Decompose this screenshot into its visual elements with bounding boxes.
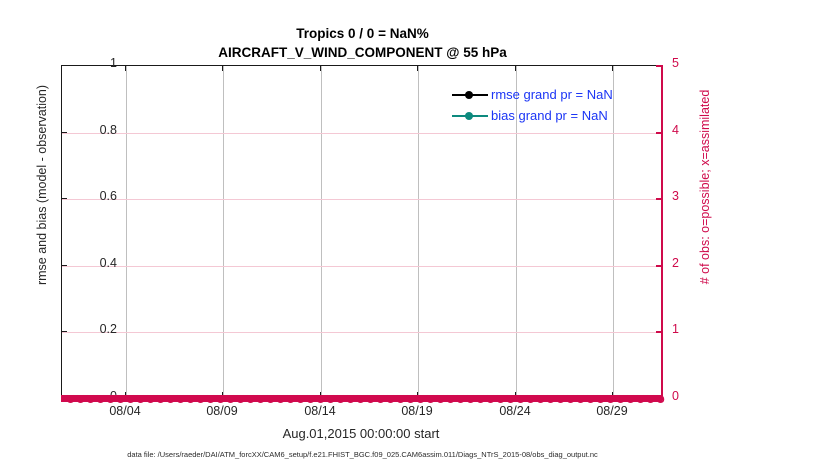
legend-item[interactable]: rmse grand pr = NaN (452, 84, 648, 105)
y-tick-label-right: 3 (672, 189, 679, 203)
grid-line-vertical (321, 66, 322, 399)
legend-marker-icon (452, 110, 488, 122)
x-tick-label: 08/19 (382, 404, 452, 418)
x-tick-label: 08/24 (480, 404, 550, 418)
y-axis-right-label: # of obs: o=possible; x=assimilated (698, 17, 712, 357)
right-axis-spine (661, 65, 663, 400)
y-tick-left (61, 65, 67, 66)
x-axis-label: Aug.01,2015 00:00:00 start (61, 426, 661, 441)
y-axis-left-label: rmse and bias (model - observation) (35, 15, 49, 355)
legend-dot-icon (465, 91, 473, 99)
y-tick-label-left: 0.6 (100, 189, 117, 203)
y-tick-left (61, 198, 67, 199)
grid-line-horizontal (62, 133, 662, 134)
y-tick-left (61, 265, 67, 266)
y-tick-left (61, 331, 67, 332)
chart-page: Tropics 0 / 0 = NaN% AIRCRAFT_V_WIND_COM… (0, 0, 830, 470)
y-tick-right (656, 198, 662, 200)
y-tick-label-right: 1 (672, 322, 679, 336)
y-tick-right (656, 331, 662, 333)
x-tick-top (125, 65, 126, 71)
obs-zero-line (61, 395, 662, 402)
data-file-footer: data file: /Users/raeder/DAI/ATM_forcXX/… (0, 450, 725, 459)
y-tick-right (656, 265, 662, 267)
x-tick-top (222, 65, 223, 71)
legend-label: bias grand pr = NaN (491, 108, 608, 123)
grid-line-vertical (126, 66, 127, 399)
y-tick-label-left: 0.2 (100, 322, 117, 336)
y-tick-right (656, 132, 662, 134)
x-tick-label: 08/29 (577, 404, 647, 418)
x-tick-top (515, 65, 516, 71)
x-tick-top (417, 65, 418, 71)
y-tick-right (656, 65, 662, 67)
chart-title-line-1: Tropics 0 / 0 = NaN% (0, 24, 725, 43)
y-tick-label-left: 1 (110, 56, 117, 70)
grid-line-vertical (418, 66, 419, 399)
legend-dot-icon (465, 112, 473, 120)
x-tick-label: 08/09 (187, 404, 257, 418)
grid-line-horizontal (62, 266, 662, 267)
y-tick-label-right: 5 (672, 56, 679, 70)
y-tick-label-right: 0 (672, 389, 679, 403)
y-tick-label-right: 4 (672, 123, 679, 137)
y-tick-label-left: 0.4 (100, 256, 117, 270)
grid-line-horizontal (62, 199, 662, 200)
legend-item[interactable]: bias grand pr = NaN (452, 105, 648, 126)
chart-legend: rmse grand pr = NaNbias grand pr = NaN (452, 84, 648, 126)
legend-marker-icon (452, 89, 488, 101)
chart-title-block: Tropics 0 / 0 = NaN% AIRCRAFT_V_WIND_COM… (0, 24, 725, 62)
legend-label: rmse grand pr = NaN (491, 87, 613, 102)
x-tick-label: 08/04 (90, 404, 160, 418)
x-tick-label: 08/14 (285, 404, 355, 418)
y-tick-label-right: 2 (672, 256, 679, 270)
grid-line-horizontal (62, 332, 662, 333)
x-tick-top (320, 65, 321, 71)
grid-line-vertical (223, 66, 224, 399)
y-tick-label-left: 0.8 (100, 123, 117, 137)
x-tick-top (612, 65, 613, 71)
chart-title-line-2: AIRCRAFT_V_WIND_COMPONENT @ 55 hPa (0, 43, 725, 62)
y-tick-left (61, 132, 67, 133)
